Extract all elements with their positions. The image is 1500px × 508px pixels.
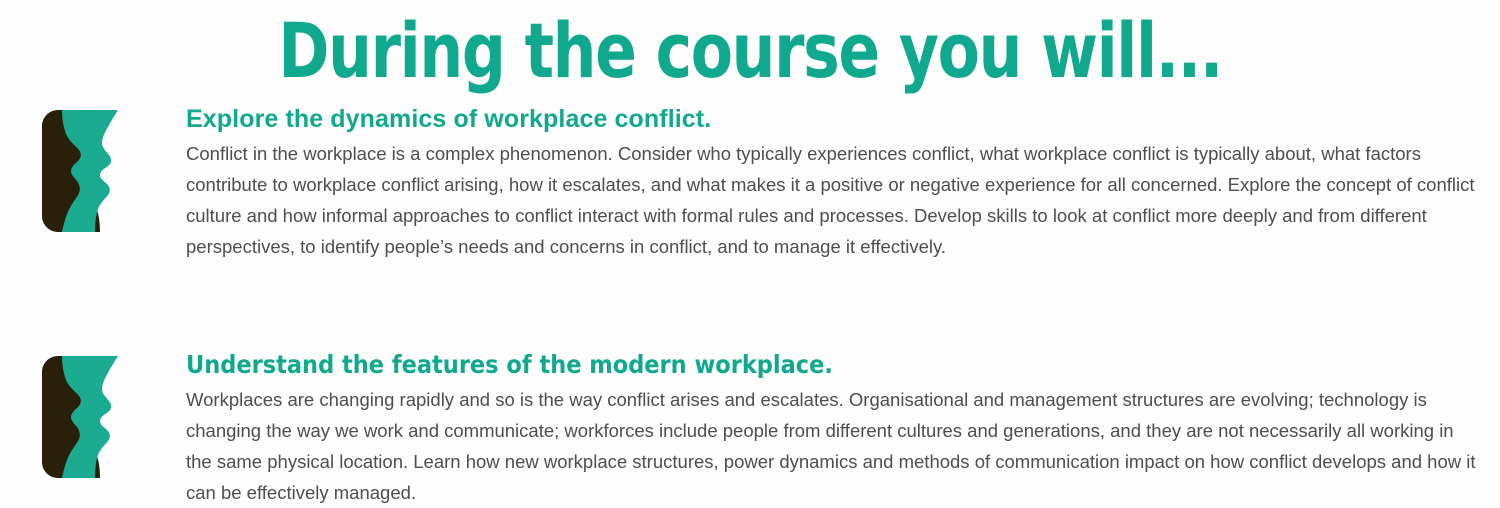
page-title-container: During the course you will... — [0, 0, 1500, 94]
outcome-text-container: Explore the dynamics of workplace confli… — [186, 100, 1480, 262]
course-outcome-item: Understand the features of the modern wo… — [0, 346, 1500, 508]
two-faces-vase-illusion-icon — [42, 110, 124, 232]
outcome-heading: Understand the features of the modern wo… — [186, 350, 1480, 380]
outcome-icon-container — [42, 100, 186, 232]
outcome-text-container: Understand the features of the modern wo… — [186, 346, 1480, 508]
course-outcome-item: Explore the dynamics of workplace confli… — [0, 100, 1500, 262]
outcome-icon-container — [42, 346, 186, 478]
outcome-body: Conflict in the workplace is a complex p… — [186, 138, 1476, 262]
course-outcomes-list: Explore the dynamics of workplace confli… — [0, 100, 1500, 508]
outcome-heading: Explore the dynamics of workplace confli… — [186, 104, 1480, 134]
page-title: During the course you will... — [278, 8, 1221, 94]
outcome-body: Workplaces are changing rapidly and so i… — [186, 384, 1476, 508]
course-overview-page: During the course you will... Explore th… — [0, 0, 1500, 498]
two-faces-vase-illusion-icon — [42, 356, 124, 478]
